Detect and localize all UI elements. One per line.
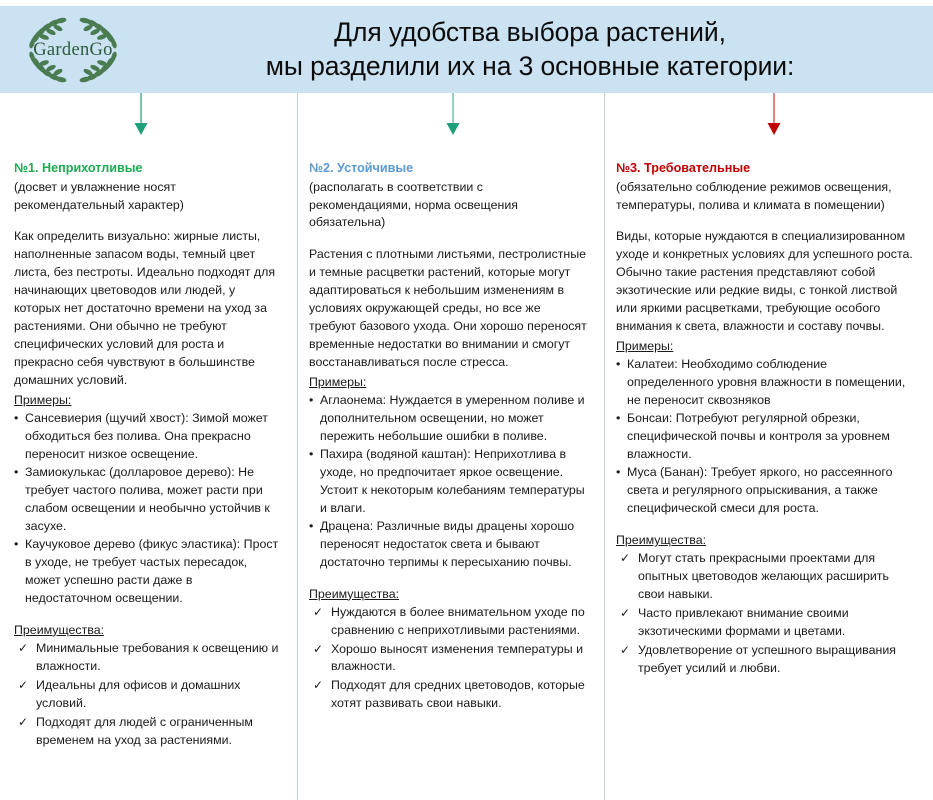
category-1-advantages-heading: Преимущества: — [14, 622, 281, 640]
arrow-down-green-2 — [440, 93, 466, 137]
category-2-examples-list: Аглаонема: Нуждается в умеренном поливе … — [309, 392, 588, 572]
list-item: Калатеи: Необходимо соблюдение определен… — [616, 356, 917, 410]
list-item: Подходят для людей с ограниченным времен… — [14, 714, 281, 750]
list-item: Муса (Банан): Требует яркого, но рассеян… — [616, 464, 917, 518]
laurel-wreath-icon: GardenGo — [14, 11, 132, 89]
category-3-examples-list: Калатеи: Необходимо соблюдение определен… — [616, 356, 917, 518]
category-column-1: №1. Неприхотливые (досвет и увлажнение н… — [0, 160, 297, 751]
page-title-line-1: Для удобства выбора растений, — [145, 16, 915, 50]
category-3-advantages-heading: Преимущества: — [616, 532, 917, 550]
list-item: Могут стать прекрасными проектами для оп… — [616, 550, 917, 604]
arrow-down-red-3 — [761, 93, 787, 137]
category-3-title: №3. Требовательные — [616, 160, 917, 177]
list-item: Каучуковое дерево (фикус эластика): Прос… — [14, 536, 281, 608]
category-1-subtitle: (досвет и увлажнение носят рекомендатель… — [14, 179, 281, 214]
arrow-down-green-1 — [128, 93, 154, 137]
list-item: Часто привлекают внимание своими экзотич… — [616, 605, 917, 641]
category-column-3: №3. Требовательные (обязательно соблюден… — [604, 160, 933, 679]
page-title-line-2: мы разделили их на 3 основные категории: — [145, 50, 915, 84]
list-item: Аглаонема: Нуждается в умеренном поливе … — [309, 392, 588, 446]
category-1-examples-list: Сансевиерия (щучий хвост): Зимой может о… — [14, 410, 281, 608]
category-2-subtitle: (располагать в соответствии с рекомендац… — [309, 179, 588, 232]
category-3-body: Виды, которые нуждаются в специализирова… — [616, 228, 917, 336]
list-item: Сансевиерия (щучий хвост): Зимой может о… — [14, 410, 281, 464]
page-title: Для удобства выбора растений, мы раздели… — [145, 16, 933, 84]
brand-logo[interactable]: GardenGo — [0, 6, 145, 93]
category-1-body: Как определить визуально: жирные листы, … — [14, 228, 281, 390]
category-2-advantages-heading: Преимущества: — [309, 586, 588, 604]
list-item: Подходят для средних цветоводов, которые… — [309, 677, 588, 713]
list-item: Хорошо выносят изменения температуры и в… — [309, 641, 588, 677]
list-item: Удовлетворение от успешного выращивания … — [616, 642, 917, 678]
categories-row: №1. Неприхотливые (досвет и увлажнение н… — [0, 160, 933, 751]
category-column-2: №2. Устойчивые (располагать в соответств… — [297, 160, 604, 714]
brand-wordmark: GardenGo — [33, 40, 112, 60]
list-item: Нуждаются в более внимательном уходе по … — [309, 604, 588, 640]
category-3-examples-heading: Примеры: — [616, 338, 917, 356]
category-3-subtitle: (обязательно соблюдение режимов освещени… — [616, 179, 917, 214]
category-2-title: №2. Устойчивые — [309, 160, 588, 177]
category-2-advantages-list: Нуждаются в более внимательном уходе по … — [309, 604, 588, 714]
category-1-title: №1. Неприхотливые — [14, 160, 281, 177]
list-item: Пахира (водяной каштан): Неприхотлива в … — [309, 446, 588, 518]
list-item: Замиокулькас (долларовое дерево): Не тре… — [14, 464, 281, 536]
category-2-body: Растения с плотными листьями, пестролист… — [309, 246, 588, 372]
list-item: Идеальны для офисов и домашних условий. — [14, 677, 281, 713]
list-item: Минимальные требования к освещению и вла… — [14, 640, 281, 676]
category-3-advantages-list: Могут стать прекрасными проектами для оп… — [616, 550, 917, 678]
category-2-examples-heading: Примеры: — [309, 374, 588, 392]
category-1-examples-heading: Примеры: — [14, 392, 281, 410]
list-item: Бонсаи: Потребуют регулярной обрезки, сп… — [616, 410, 917, 464]
list-item: Драцена: Различные виды драцены хорошо п… — [309, 518, 588, 572]
category-1-advantages-list: Минимальные требования к освещению и вла… — [14, 640, 281, 750]
header-band: GardenGo Для удобства выбора растений, м… — [0, 6, 933, 93]
